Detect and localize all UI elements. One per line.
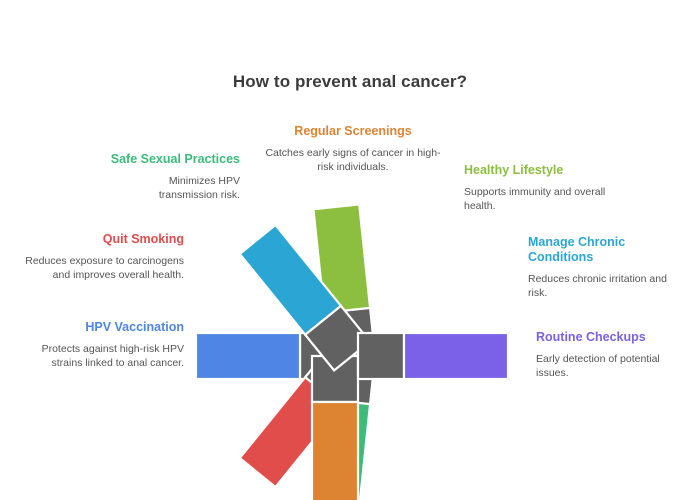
label-heading-manage-chronic-conditions: Manage Chronic Conditions (528, 235, 678, 265)
label-manage-chronic-conditions: Manage Chronic Conditions Reduces chroni… (528, 235, 678, 300)
label-heading-quit-smoking: Quit Smoking (24, 232, 184, 247)
label-body-manage-chronic-conditions: Reduces chronic irritation and risk. (528, 272, 678, 300)
fan-arm-bar-hpv-vaccination (196, 333, 300, 379)
label-heading-routine-checkups: Routine Checkups (536, 330, 691, 345)
fan-arm-bar-regular-screenings (312, 402, 358, 500)
label-body-routine-checkups: Early detection of potential issues. (536, 352, 691, 380)
label-heading-regular-screenings: Regular Screenings (258, 124, 448, 139)
label-body-regular-screenings: Catches early signs of cancer in high-ri… (258, 146, 448, 174)
label-heading-healthy-lifestyle: Healthy Lifestyle (464, 163, 634, 178)
label-hpv-vaccination: HPV Vaccination Protects against high-ri… (14, 320, 184, 370)
fan-arm-regular-screenings[interactable] (312, 356, 358, 500)
infographic-canvas: How to prevent anal cancer? (0, 0, 700, 500)
label-heading-safe-sexual-practices: Safe Sexual Practices (110, 152, 240, 167)
label-regular-screenings: Regular Screenings Catches early signs o… (258, 124, 448, 174)
label-body-safe-sexual-practices: Minimizes HPV transmission risk. (110, 174, 240, 202)
label-heading-hpv-vaccination: HPV Vaccination (14, 320, 184, 335)
label-quit-smoking: Quit Smoking Reduces exposure to carcino… (24, 232, 184, 282)
label-safe-sexual-practices: Safe Sexual Practices Minimizes HPV tran… (110, 152, 240, 202)
label-body-quit-smoking: Reduces exposure to carcinogens and impr… (24, 254, 184, 282)
label-body-healthy-lifestyle: Supports immunity and overall health. (464, 185, 634, 213)
label-routine-checkups: Routine Checkups Early detection of pote… (536, 330, 691, 380)
label-healthy-lifestyle: Healthy Lifestyle Supports immunity and … (464, 163, 634, 213)
fan-arm-hub-routine-checkups (358, 333, 404, 379)
fan-arm-bar-routine-checkups (404, 333, 508, 379)
label-body-hpv-vaccination: Protects against high-risk HPV strains l… (14, 342, 184, 370)
fan-arm-routine-checkups[interactable] (358, 333, 508, 379)
